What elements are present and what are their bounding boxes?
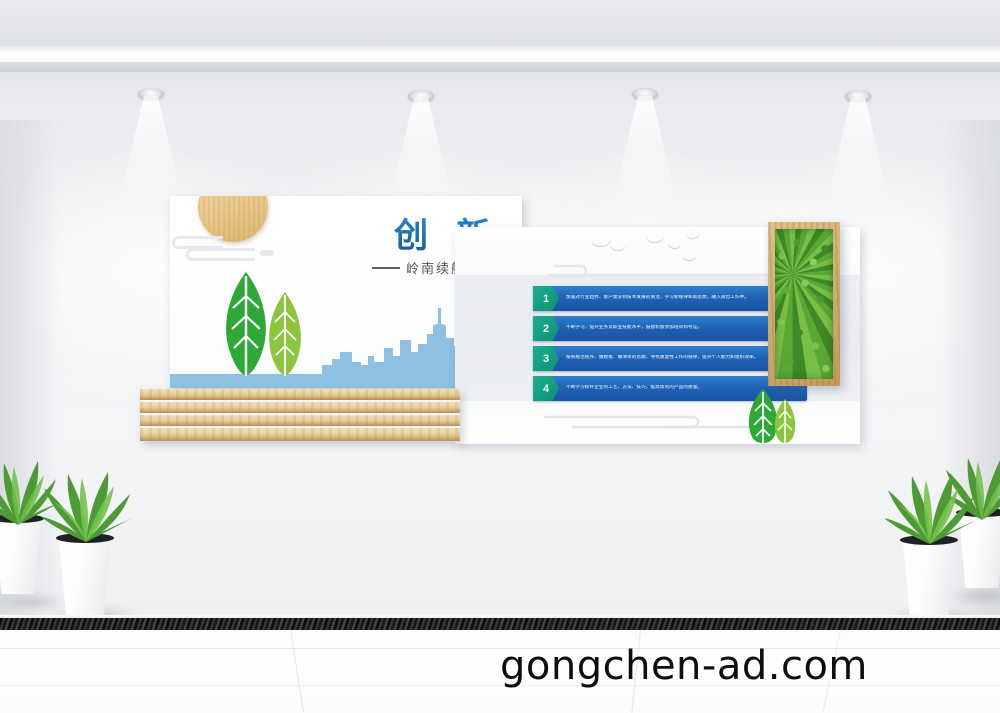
bird-icon [592, 234, 611, 245]
list-item[interactable]: 1 加强对行业趋势、客户需求和技术发展的关注，学习新规律和新思想，融入岗位工作中… [533, 286, 807, 311]
bird-icon [611, 240, 626, 248]
plant-foliage-icon [882, 470, 978, 548]
list-item-number: 3 [533, 346, 559, 371]
list-item-number: 4 [533, 376, 559, 401]
list-item[interactable]: 2 不断学习，提升业务及职业技能水平，鼓励积极参加培训和考证。 [533, 316, 807, 341]
mosaic-baseboard [0, 618, 1000, 630]
bird-icon [647, 231, 664, 240]
wood-slat-panel [140, 389, 460, 441]
moss-green-texture [775, 229, 833, 379]
cloud-line-icon [547, 257, 797, 279]
cloud-line-icon [186, 248, 255, 261]
recessed-downlight-icon [138, 88, 164, 100]
cloud-dot-icon [260, 250, 274, 256]
recessed-downlight-icon [408, 90, 434, 102]
wall-mural-scene: 创 新 岭南续航之源 1 加强对行业趋势、客户需求和技术发展的关 [0, 0, 1000, 713]
recessed-downlight-icon [845, 90, 871, 102]
bird-icon [669, 239, 681, 246]
list-item[interactable]: 3 按照规范程序、做模板、做清单的思路，寻找重复性工作的规律，提升个人能力和组织… [533, 346, 807, 371]
leaf-dark-icon [222, 272, 270, 376]
watermark-text: gongchen-ad.com [500, 643, 868, 689]
moss-wall-panel [768, 222, 840, 386]
leaf-light-icon [266, 292, 304, 376]
list-item-number: 2 [533, 316, 559, 341]
recessed-downlight-icon [632, 88, 658, 100]
ceiling-slab [0, 0, 1000, 52]
bird-icon [687, 229, 700, 237]
plant-foliage-icon [38, 468, 134, 546]
leaf-pair-icon [743, 387, 803, 444]
list-item-number: 1 [533, 286, 559, 311]
ceiling-strip-light [0, 50, 1000, 60]
subtitle-dash-icon [372, 267, 400, 269]
